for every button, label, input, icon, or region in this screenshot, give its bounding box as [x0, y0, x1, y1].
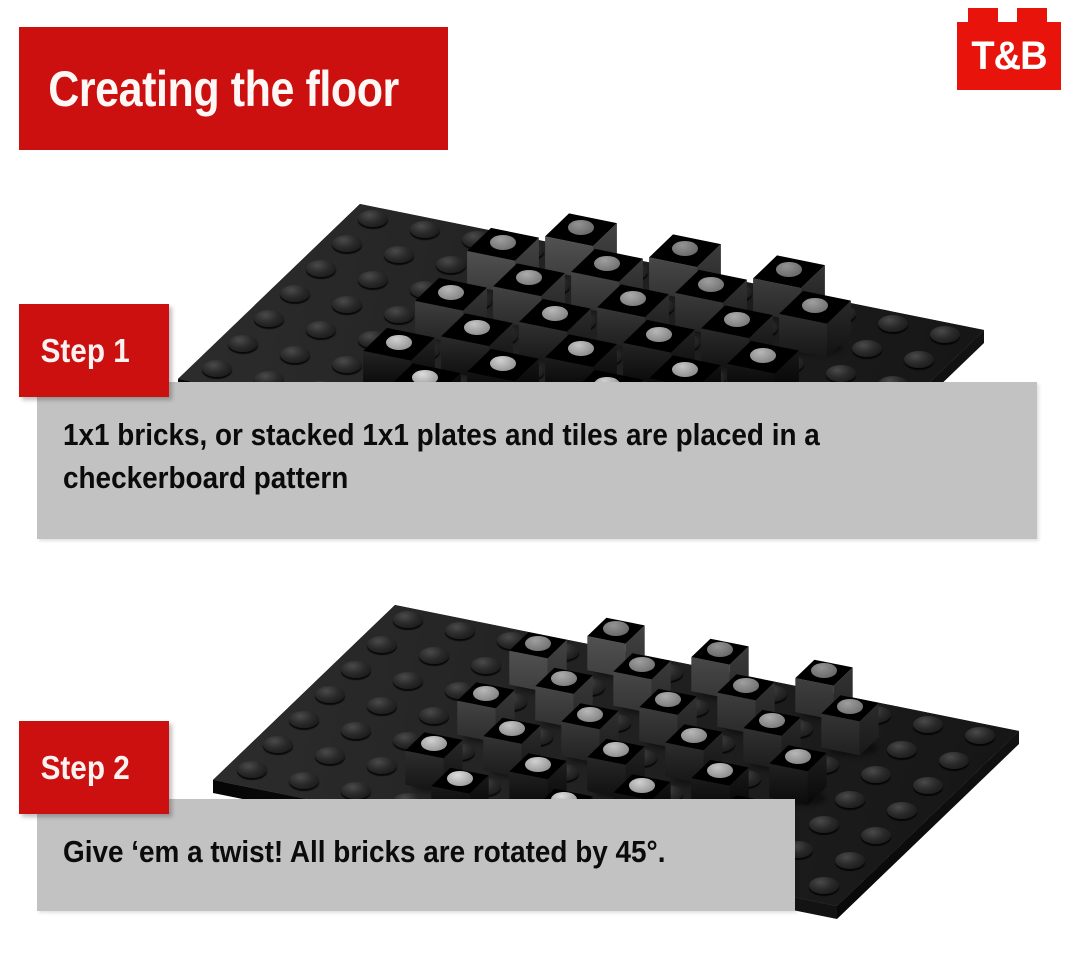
baseplate-stud — [904, 351, 934, 368]
baseplate-stud — [930, 326, 960, 343]
baseplate-stud — [965, 727, 995, 744]
page-title: Creating the floor — [19, 60, 399, 118]
step-1-caption-text: 1x1 bricks, or stacked 1x1 plates and ti… — [63, 414, 1044, 500]
brick-right-face — [185, 545, 925, 825]
lego-1x1-brick — [150, 160, 890, 400]
lego-1x1-brick — [185, 545, 925, 825]
step-2-badge: Step 2 — [19, 721, 169, 814]
step-1-badge: Step 1 — [19, 304, 169, 397]
brick-top-face — [185, 545, 925, 825]
brick-left-face — [185, 545, 925, 825]
baseplate-stud — [809, 877, 839, 894]
illustration-step-2 — [185, 545, 925, 825]
baseplate-stud — [939, 752, 969, 769]
poster-root: Creating the floor T&B Step 1 1x1 bricks… — [0, 0, 1080, 972]
baseplate-stud — [835, 852, 865, 869]
illustration-step-1 — [150, 160, 890, 400]
brick-left-face — [150, 160, 890, 400]
step-2-caption-band: Give ‘em a twist! All bricks are rotated… — [37, 799, 795, 911]
brick-top-face — [150, 160, 890, 400]
step-1-label: Step 1 — [19, 332, 130, 370]
step-1-caption-band: 1x1 bricks, or stacked 1x1 plates and ti… — [37, 382, 1037, 539]
baseplate-stud — [861, 827, 891, 844]
logo-label: T&B — [960, 22, 1059, 90]
step-2-caption-text: Give ‘em a twist! All bricks are rotated… — [63, 831, 801, 874]
page-title-bar: Creating the floor — [19, 27, 448, 150]
brand-logo[interactable]: T&B — [957, 8, 1061, 90]
brick-right-face — [150, 160, 890, 400]
step-2-label: Step 2 — [19, 749, 130, 787]
